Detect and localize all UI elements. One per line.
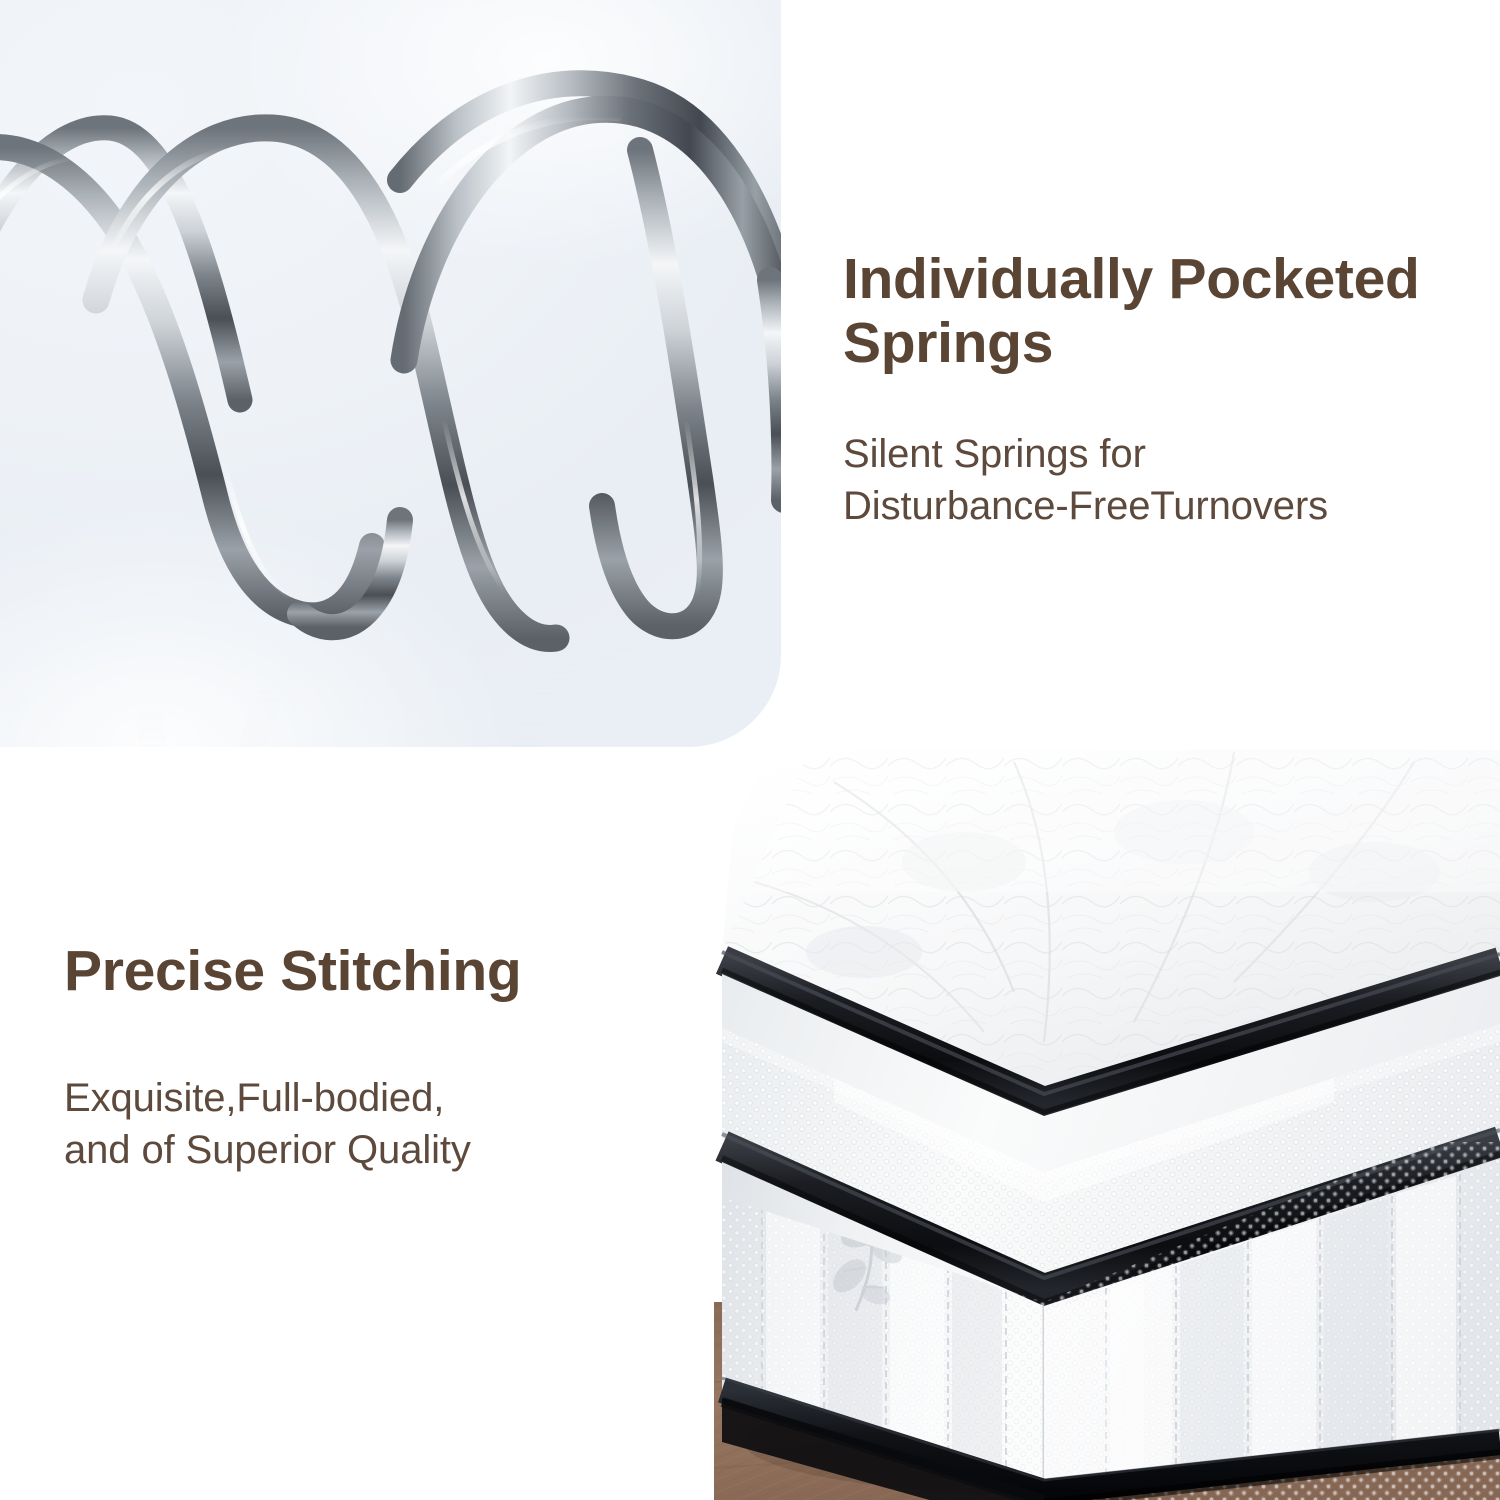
pocketed-springs-headline: Individually Pocketed Springs <box>843 248 1483 376</box>
precise-stitching-subline: Exquisite,Full-bodied, and of Superior Q… <box>64 1072 684 1176</box>
precise-stitching-headline: Precise Stitching <box>64 940 684 1004</box>
feature-text-pocketed-springs: Individually Pocketed Springs Silent Spr… <box>843 248 1483 532</box>
spring-reflection <box>0 643 781 747</box>
mattress-corner-illustration <box>714 742 1500 1500</box>
spring-photo-panel <box>0 0 781 747</box>
pocketed-springs-subline: Silent Springs for Disturbance-FreeTurno… <box>843 428 1483 532</box>
chrome-spring-illustration <box>0 0 781 747</box>
marketing-image-canvas: Individually Pocketed Springs Silent Spr… <box>0 0 1500 1500</box>
feature-text-precise-stitching: Precise Stitching Exquisite,Full-bodied,… <box>64 940 684 1176</box>
mattress-photo-panel <box>714 742 1500 1500</box>
